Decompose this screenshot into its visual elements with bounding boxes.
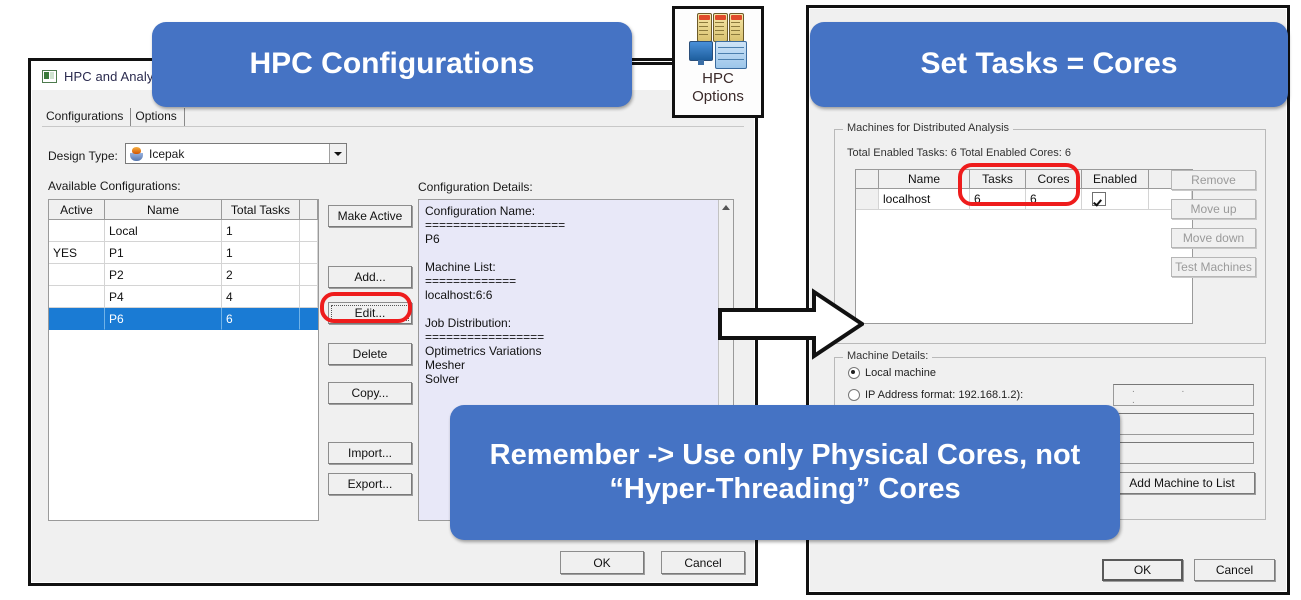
- cell-name: P6: [105, 308, 222, 330]
- cell-tasks: 4: [222, 286, 300, 308]
- cell-rowmark: [856, 189, 879, 210]
- remove-button[interactable]: Remove: [1171, 170, 1256, 190]
- cell-name: P4: [105, 286, 222, 308]
- radio-dot-icon: [848, 367, 860, 379]
- machines-row[interactable]: localhost 6 6: [856, 189, 1192, 210]
- configurations-table[interactable]: Active Name Total Tasks Local 1 YES P1 1: [48, 199, 319, 521]
- machine-field-3[interactable]: [1113, 442, 1254, 464]
- cell-name: P1: [105, 242, 222, 264]
- cell-active: YES: [49, 242, 105, 264]
- icepak-icon: [129, 147, 144, 161]
- design-type-value: Icepak: [149, 147, 184, 161]
- ok-button[interactable]: OK: [560, 551, 644, 574]
- app-icon: [42, 70, 57, 83]
- cell-active: [49, 264, 105, 286]
- ok-button[interactable]: OK: [1102, 559, 1183, 581]
- table-header-row: Active Name Total Tasks: [49, 200, 318, 220]
- cell-cores: 6: [1026, 189, 1082, 210]
- slide-canvas: HPC and Analysis Options Configurations …: [0, 0, 1301, 600]
- configuration-details-label: Configuration Details:: [418, 180, 533, 194]
- cell-spacer: [300, 308, 318, 330]
- move-down-button[interactable]: Move down: [1171, 228, 1256, 248]
- column-rowmark: [856, 170, 879, 189]
- cell-name: P2: [105, 264, 222, 286]
- column-name: Name: [879, 170, 970, 189]
- design-type-combo[interactable]: Icepak: [125, 143, 347, 164]
- cell-active: [49, 286, 105, 308]
- machines-header-row: Name Tasks Cores Enabled: [856, 170, 1192, 189]
- cell-spacer: [300, 220, 318, 242]
- cell-enabled[interactable]: [1082, 189, 1149, 210]
- callout-set-tasks-cores: Set Tasks = Cores: [810, 22, 1288, 107]
- callout-leader-left: [625, 62, 675, 65]
- cell-active: [49, 220, 105, 242]
- cell-spacer: [300, 286, 318, 308]
- table-row[interactable]: YES P1 1: [49, 242, 318, 264]
- column-enabled: Enabled: [1082, 170, 1149, 189]
- cell-spacer: [300, 264, 318, 286]
- available-configurations-label: Available Configurations:: [48, 179, 181, 193]
- column-active: Active: [49, 200, 105, 220]
- totals-line: Total Enabled Tasks: 6 Total Enabled Cor…: [847, 147, 1071, 159]
- right-arrow: [718, 288, 864, 360]
- cancel-button[interactable]: Cancel: [1194, 559, 1275, 581]
- chevron-down-icon[interactable]: [329, 144, 346, 163]
- tab-strip: Configurations Options: [42, 106, 744, 126]
- radio-local-machine-label: Local machine: [865, 367, 936, 379]
- cell-tasks: 2: [222, 264, 300, 286]
- radio-ip-address-label: IP Address format: 192.168.1.2):: [865, 389, 1023, 401]
- callout-remember-physical-cores: Remember -> Use only Physical Cores, not…: [450, 405, 1120, 540]
- cell-tasks: 6: [222, 308, 300, 330]
- cancel-button[interactable]: Cancel: [661, 551, 745, 574]
- cell-tasks: 1: [222, 220, 300, 242]
- table-row[interactable]: P2 2: [49, 264, 318, 286]
- test-machines-button[interactable]: Test Machines: [1171, 257, 1256, 277]
- add-machine-to-list-button[interactable]: Add Machine to List: [1109, 472, 1255, 494]
- make-active-button[interactable]: Make Active: [328, 205, 412, 227]
- machines-table[interactable]: Name Tasks Cores Enabled localhost 6 6: [855, 169, 1193, 324]
- machine-field-2[interactable]: [1113, 413, 1254, 435]
- cell-tasks: 1: [222, 242, 300, 264]
- hpc-options-line2: Options: [692, 88, 744, 105]
- hpc-options-icon-card[interactable]: HPC Options: [672, 6, 764, 118]
- add-button[interactable]: Add...: [328, 266, 412, 288]
- delete-button[interactable]: Delete: [328, 343, 412, 365]
- tab-configurations[interactable]: Configurations: [42, 108, 131, 126]
- tab-underline: [42, 126, 744, 127]
- move-up-button[interactable]: Move up: [1171, 199, 1256, 219]
- copy-button[interactable]: Copy...: [328, 382, 412, 404]
- edit-button[interactable]: Edit...: [328, 302, 412, 324]
- cell-name: localhost: [879, 189, 970, 210]
- ip-address-input[interactable]: . . .: [1113, 384, 1254, 406]
- configuration-details-text: Configuration Name: ====================…: [419, 200, 733, 390]
- column-cores: Cores: [1026, 170, 1082, 189]
- export-button[interactable]: Export...: [328, 473, 412, 495]
- machines-group-title: Machines for Distributed Analysis: [843, 122, 1013, 134]
- tab-options[interactable]: Options: [131, 108, 184, 126]
- cell-tasks: 6: [970, 189, 1026, 210]
- enabled-checkbox[interactable]: [1092, 192, 1106, 206]
- radio-dot-icon: [848, 389, 860, 401]
- cell-spacer: [300, 242, 318, 264]
- import-button[interactable]: Import...: [328, 442, 412, 464]
- radio-local-machine[interactable]: Local machine: [848, 367, 936, 379]
- callout-hpc-configurations: HPC Configurations: [152, 22, 632, 107]
- column-name: Name: [105, 200, 222, 220]
- hpc-servers-icon: [683, 13, 753, 69]
- column-spacer: [300, 200, 318, 220]
- scroll-up-icon[interactable]: [719, 200, 733, 214]
- column-total-tasks: Total Tasks: [222, 200, 300, 220]
- table-row[interactable]: Local 1: [49, 220, 318, 242]
- table-row[interactable]: P4 4: [49, 286, 318, 308]
- design-type-label: Design Type:: [48, 149, 118, 163]
- cell-active: [49, 308, 105, 330]
- table-row-selected[interactable]: P6 6: [49, 308, 318, 330]
- radio-ip-address[interactable]: IP Address format: 192.168.1.2):: [848, 389, 1023, 401]
- column-tasks: Tasks: [970, 170, 1026, 189]
- hpc-options-line1: HPC: [702, 70, 734, 87]
- cell-name: Local: [105, 220, 222, 242]
